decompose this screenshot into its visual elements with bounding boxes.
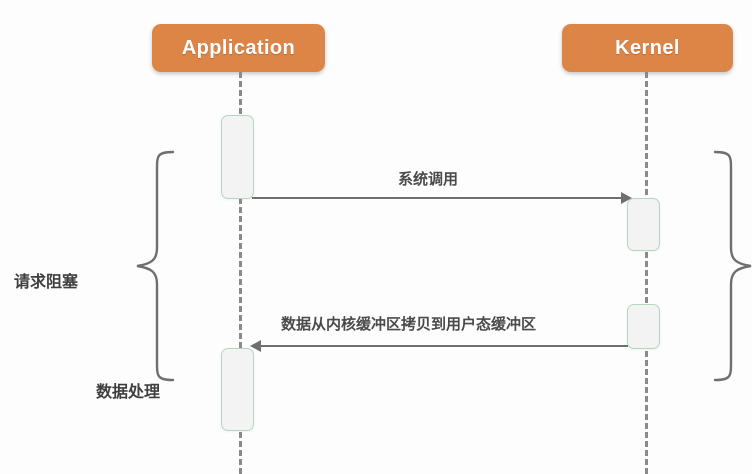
participant-box-kernel[interactable]: Kernel [562, 24, 733, 72]
message-arrow-line-copy-buffer [252, 345, 628, 347]
right-curly-brace [713, 150, 752, 382]
participant-label-application: Application [182, 37, 295, 60]
participant-box-application[interactable]: Application [152, 24, 325, 72]
message-label-syscall: 系统调用 [398, 168, 458, 189]
activation-bar-application-2[interactable] [221, 348, 254, 431]
activation-bar-application-1[interactable] [221, 115, 254, 199]
message-arrow-line-syscall [252, 197, 628, 199]
group-label-request-blocking: 请求阻塞 [14, 268, 78, 292]
participant-label-kernel: Kernel [615, 37, 680, 60]
message-arrowhead-right-icon [621, 192, 632, 204]
activation-bar-kernel-2[interactable] [627, 304, 660, 349]
left-curly-brace [133, 150, 175, 382]
lifeline-kernel [645, 72, 648, 474]
activation-bar-kernel-1[interactable] [627, 198, 660, 251]
sequence-diagram-canvas: Application Kernel 系统调用 数据从内核缓冲区拷贝到用户态缓冲… [0, 0, 752, 474]
group-label-data-processing: 数据处理 [96, 378, 160, 402]
message-arrowhead-left-icon [250, 340, 261, 352]
message-label-copy-buffer: 数据从内核缓冲区拷贝到用户态缓冲区 [281, 313, 536, 334]
